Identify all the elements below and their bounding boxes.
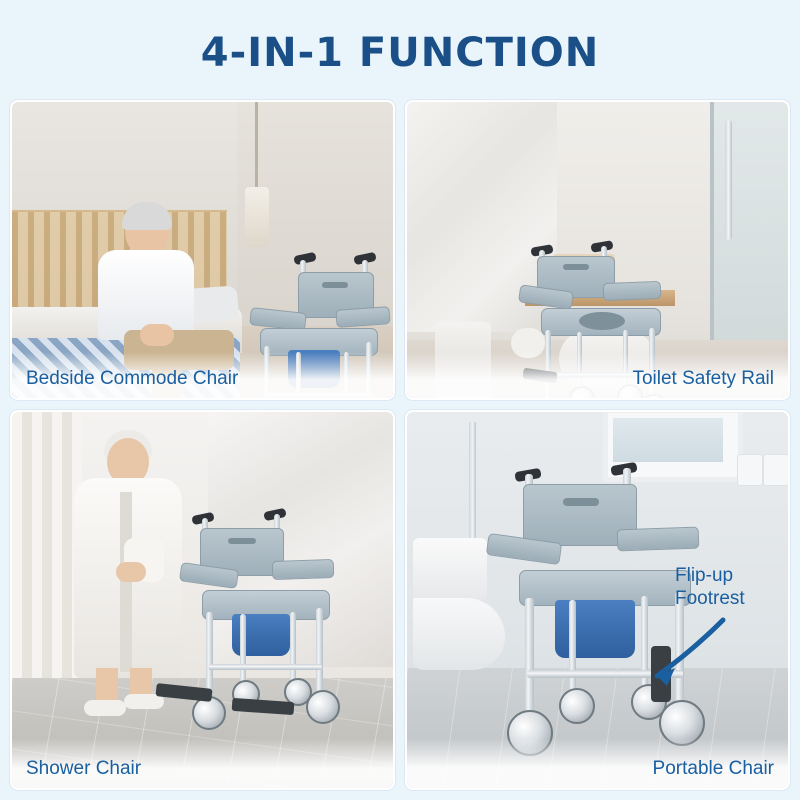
chair-caster-rear-left bbox=[559, 688, 595, 724]
panel-caption: Bedside Commode Chair bbox=[26, 368, 238, 390]
chair-leg-rear-left bbox=[569, 600, 576, 700]
curtain bbox=[12, 412, 82, 712]
person-slipper-left bbox=[84, 700, 126, 716]
page-title: 4-IN-1 FUNCTION bbox=[0, 30, 800, 76]
chair-leg-rear-right bbox=[290, 612, 296, 686]
annotation-line-2: Footrest bbox=[675, 587, 785, 610]
panel-caption: Shower Chair bbox=[26, 758, 141, 780]
panel-shower-chair[interactable]: Shower Chair bbox=[10, 410, 395, 790]
person-hands bbox=[140, 324, 174, 346]
chair-commode-bucket bbox=[555, 600, 635, 658]
chair-armrest-right bbox=[603, 281, 662, 301]
chair-leg-front-right bbox=[316, 608, 323, 696]
toilet-bowl bbox=[413, 598, 505, 670]
panel-bedside-commode-chair[interactable]: Bedside Commode Chair bbox=[10, 100, 395, 400]
chair-backrest-slot bbox=[563, 498, 599, 506]
person-robe-fold bbox=[120, 492, 132, 672]
power-outlet-right bbox=[763, 454, 788, 486]
chair-footrest-right bbox=[232, 698, 295, 715]
person-leg-left bbox=[96, 668, 118, 704]
panel-caption: Portable Chair bbox=[653, 758, 774, 780]
power-outlet-left bbox=[737, 454, 763, 486]
pendant-lamp-cord bbox=[255, 102, 258, 187]
person-hands bbox=[116, 562, 146, 582]
annotation-flip-up-footrest: Flip-up Footrest bbox=[675, 564, 785, 610]
chair-backrest-slot bbox=[563, 264, 589, 270]
chair-leg-rear-left bbox=[240, 614, 246, 688]
photo-shower-chair bbox=[12, 412, 393, 788]
chair-crossbar bbox=[208, 664, 322, 670]
chair-armrest-right bbox=[335, 306, 390, 328]
photo-bedside-commode-chair bbox=[12, 102, 393, 398]
panel-caption: Toilet Safety Rail bbox=[632, 368, 774, 390]
chair-backrest-slot bbox=[228, 538, 256, 544]
grab-bar bbox=[725, 120, 732, 240]
photo-toilet-safety-rail bbox=[407, 102, 788, 398]
annotation-arrow bbox=[627, 612, 737, 702]
panel-portable-chair[interactable]: Flip-up Footrest Portable Chair bbox=[405, 410, 790, 790]
chair-backrest-slot bbox=[322, 282, 348, 288]
chair-seat-opening bbox=[579, 312, 625, 330]
panel-toilet-safety-rail[interactable]: Toilet Safety Rail bbox=[405, 100, 790, 400]
photo-portable-chair: Flip-up Footrest bbox=[407, 412, 788, 788]
chair-armrest-right bbox=[272, 559, 335, 580]
product-infographic: 4-IN-1 FUNCTION bbox=[0, 0, 800, 800]
panel-grid: Bedside Commode Chair bbox=[10, 100, 790, 790]
annotation-line-1: Flip-up bbox=[675, 564, 785, 587]
chair-leg-front-left bbox=[525, 598, 534, 720]
chair-armrest-right bbox=[617, 527, 700, 552]
shower-chair bbox=[184, 504, 364, 744]
toilet-tank bbox=[413, 538, 487, 600]
pendant-lamp-shade bbox=[245, 187, 269, 247]
